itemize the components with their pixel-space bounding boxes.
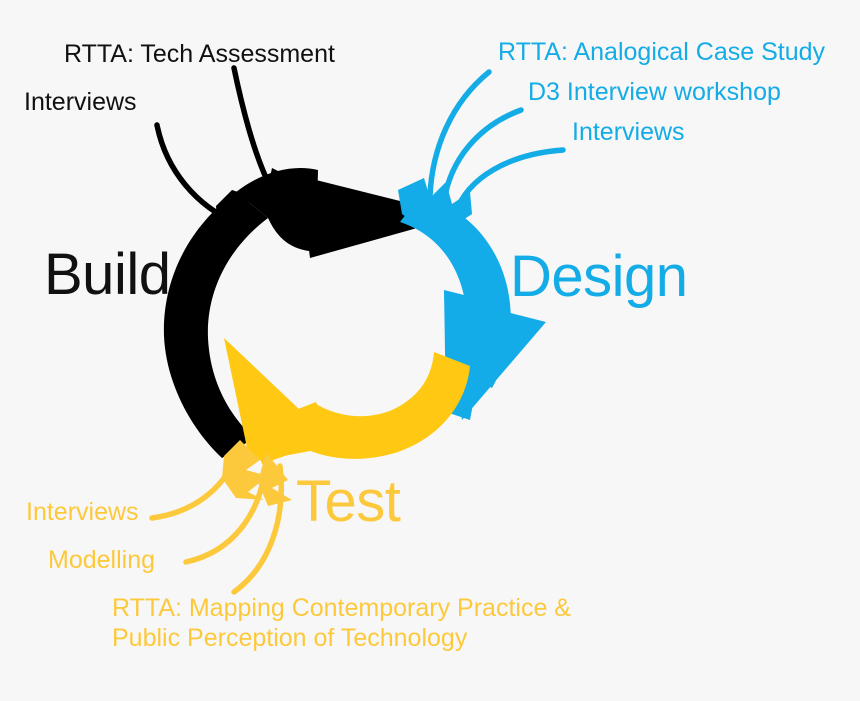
- annotation-design-rtta-analogical-case-study: RTTA: Analogical Case Study: [498, 38, 825, 68]
- annotation-test-interviews: Interviews: [26, 498, 139, 528]
- phase-label-build: Build: [44, 246, 170, 304]
- phase-label-design: Design: [510, 248, 688, 306]
- annotation-design-d3-interview-workshop: D3 Interview workshop: [528, 78, 781, 108]
- design-leader-line-2: [444, 110, 521, 202]
- annotation-build-rtta-tech-assessment: RTTA: Tech Assessment: [64, 40, 335, 70]
- annotation-test-rtta-mapping-contemporary-practice: RTTA: Mapping Contemporary Practice & Pu…: [112, 594, 632, 653]
- annotation-test-modelling: Modelling: [48, 546, 155, 576]
- annotation-build-interviews: Interviews: [24, 88, 137, 118]
- cycle-diagram: Build Design Test RTTA: Tech Assessment …: [0, 0, 860, 701]
- design-leader-line-3: [456, 150, 563, 212]
- phase-label-test: Test: [296, 473, 400, 531]
- annotation-design-interviews: Interviews: [572, 118, 685, 148]
- build-leader-line-1: [234, 68, 272, 190]
